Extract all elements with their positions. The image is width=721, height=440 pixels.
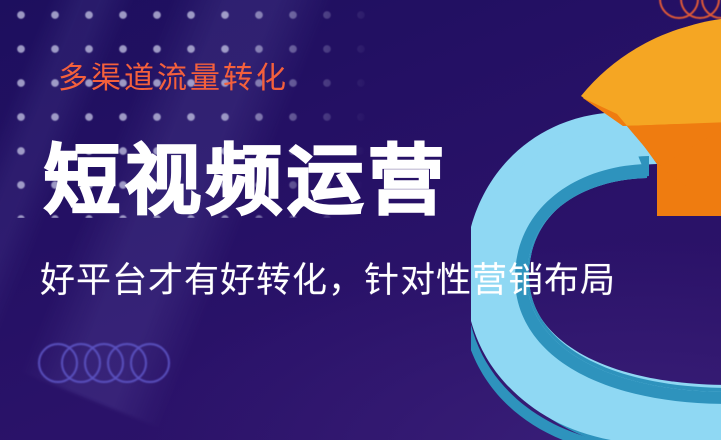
promo-banner: 多渠道流量转化 短视频运营 好平台才有好转化，针对性营销布局 — [0, 0, 721, 440]
page-title: 短视频运营 — [44, 137, 449, 227]
kicker-text: 多渠道流量转化 — [58, 60, 289, 98]
subtitle-text: 好平台才有好转化，针对性营销布局 — [40, 258, 616, 304]
ring-bottom-left-5 — [130, 343, 170, 383]
